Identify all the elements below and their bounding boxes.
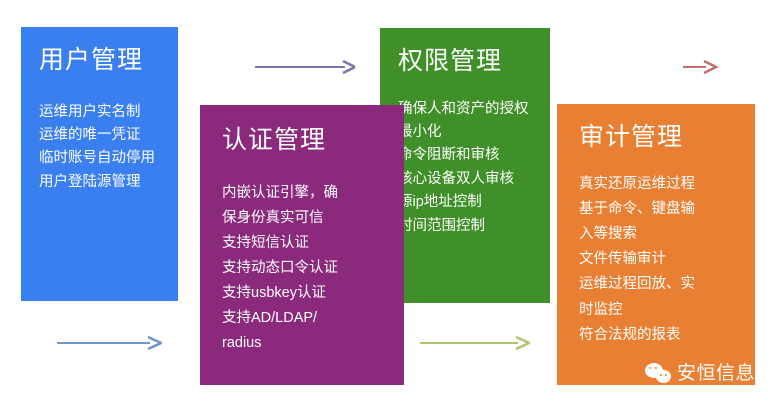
arrow-right-icon-user-to-authentication	[57, 333, 162, 353]
card-audit-management: 审计管理 真实还原运维过程 基于命令、键盘输 入等搜索 文件传输审计 运维过程回…	[557, 104, 755, 385]
list-item: 支持短信认证	[222, 231, 404, 256]
list-item: 源ip地址控制	[398, 191, 550, 214]
card-title-privilege-management: 权限管理	[398, 48, 550, 76]
card-authentication-management: 认证管理 内嵌认证引擎，确 保身份真实可信 支持短信认证 支持动态口令认证 支持…	[200, 105, 404, 385]
list-item: 符合法规的报表	[579, 323, 755, 348]
card-list-user-management: 运维用户实名制 运维的唯一凭证 临时账号自动停用 用户登陆源管理	[39, 101, 178, 195]
list-item: 运维用户实名制	[39, 101, 178, 124]
card-privilege-management: 权限管理 确保人和资产的授权 最小化 命令阻断和审核 核心设备双人审核 源ip地…	[380, 28, 550, 303]
list-item: 支持动态口令认证	[222, 256, 404, 281]
list-item: 确保人和资产的授权	[398, 98, 550, 121]
list-item: 基于命令、键盘输	[579, 197, 755, 222]
watermark: 安恒信息	[645, 358, 757, 388]
list-item: 支持usbkey认证	[222, 281, 404, 306]
list-item: 核心设备双人审核	[398, 168, 550, 191]
list-item: 保身份真实可信	[222, 206, 404, 231]
card-title-user-management: 用户管理	[39, 47, 178, 75]
list-item: 时监控	[579, 298, 755, 323]
list-item: 内嵌认证引擎，确	[222, 181, 404, 206]
list-item: 真实还原运维过程	[579, 172, 755, 197]
infographic-canvas: 用户管理 运维用户实名制 运维的唯一凭证 临时账号自动停用 用户登陆源管理 认证…	[0, 0, 772, 406]
arrow-right-icon-user-to-privilege	[255, 57, 355, 77]
list-item: 用户登陆源管理	[39, 171, 178, 194]
list-item: 运维过程回放、实	[579, 272, 755, 297]
list-item: 命令阻断和审核	[398, 144, 550, 167]
list-item: 时间范围控制	[398, 215, 550, 238]
list-item: 支持AD/LDAP/	[222, 306, 404, 331]
card-list-authentication-management: 内嵌认证引擎，确 保身份真实可信 支持短信认证 支持动态口令认证 支持usbke…	[222, 181, 404, 357]
card-title-authentication-management: 认证管理	[222, 127, 404, 155]
arrow-right-icon-privilege-to-audit	[683, 57, 772, 77]
list-item: 文件传输审计	[579, 247, 755, 272]
card-list-audit-management: 真实还原运维过程 基于命令、键盘输 入等搜索 文件传输审计 运维过程回放、实 时…	[579, 172, 755, 349]
card-user-management: 用户管理 运维用户实名制 运维的唯一凭证 临时账号自动停用 用户登陆源管理	[21, 27, 178, 301]
wechat-icon	[645, 361, 672, 385]
card-list-privilege-management: 确保人和资产的授权 最小化 命令阻断和审核 核心设备双人审核 源ip地址控制 时…	[398, 98, 550, 239]
list-item: 入等搜索	[579, 222, 755, 247]
list-item: 最小化	[398, 121, 550, 144]
arrow-right-icon-authentication-to-audit	[420, 333, 530, 353]
watermark-label: 安恒信息	[677, 364, 755, 383]
card-title-audit-management: 审计管理	[579, 124, 755, 152]
list-item: 运维的唯一凭证	[39, 124, 178, 147]
list-item: radius	[222, 331, 404, 356]
list-item: 临时账号自动停用	[39, 147, 178, 170]
